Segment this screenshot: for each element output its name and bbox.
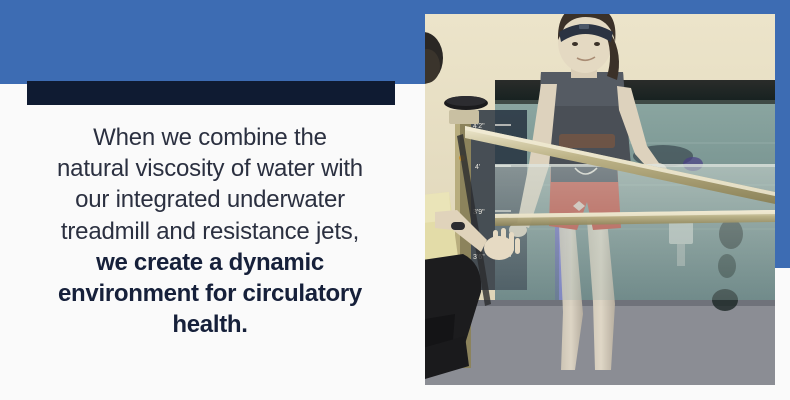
depth-marker-label: 4' — [475, 164, 480, 171]
quote-line-5: we create a dynamic — [8, 247, 412, 278]
hydrotherapy-photo-illustration: 4'2" 4' 3'9" 3'6" — [425, 14, 775, 385]
quote-line-6: environment for circulatory — [8, 278, 412, 309]
quote-line-4: treadmill and resistance jets, — [8, 216, 412, 247]
quote-block: When we combine the natural viscosity of… — [8, 122, 412, 340]
quote-line-7: health. — [8, 309, 412, 340]
quote-line-2: natural viscosity of water with — [8, 153, 412, 184]
quote-line-1: When we combine the — [8, 122, 412, 153]
navy-accent-bar — [27, 81, 395, 105]
quote-line-3: our integrated underwater — [8, 184, 412, 215]
hydrotherapy-photo: 4'2" 4' 3'9" 3'6" — [425, 14, 775, 385]
poster-canvas: When we combine the natural viscosity of… — [0, 0, 790, 400]
